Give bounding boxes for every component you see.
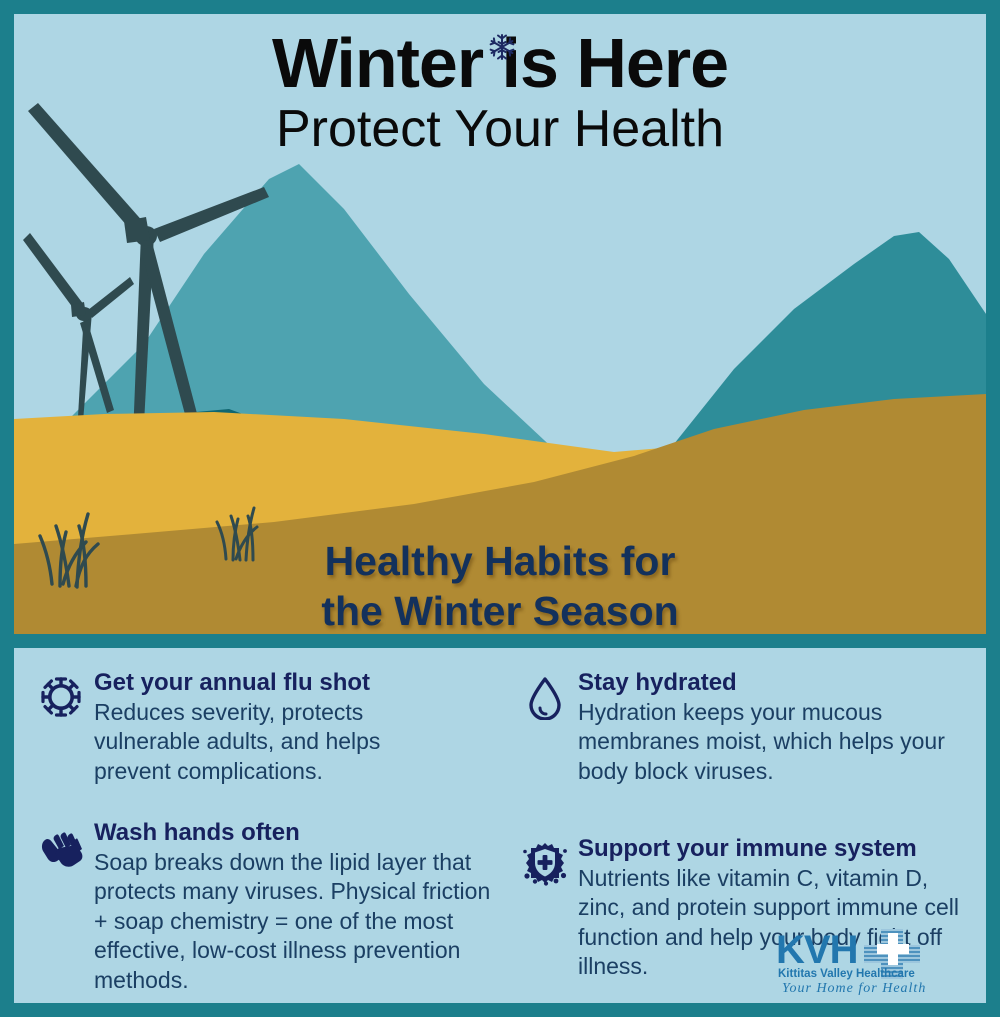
tip-text: Hydration keeps your mucous membranes mo… (578, 698, 952, 786)
immune-shield-icon (522, 840, 568, 886)
tip-item-stay-hydrated: Stay hydrated Hydration keeps your mucou… (522, 670, 952, 786)
tip-body: Wash hands often Soap breaks down the li… (94, 820, 508, 995)
tip-title: Support your immune system (578, 836, 972, 863)
banner-line-1: Healthy Habits for (14, 536, 986, 586)
poster-inner: Winter (14, 14, 986, 1003)
washing-hands-icon (38, 824, 84, 870)
kvh-wordmark: KVH (776, 928, 857, 972)
water-droplet-icon (522, 674, 568, 720)
kvh-logo: KVH (776, 927, 966, 997)
tip-title: Stay hydrated (578, 670, 952, 697)
tip-item-wash-hands: Wash hands often Soap breaks down the li… (38, 820, 508, 995)
tip-title: Get your annual flu shot (94, 670, 458, 697)
tip-item-flu-shot: Get your annual flu shot Reduces severit… (38, 670, 458, 786)
kvh-tagline: Your Home for Health (782, 981, 926, 996)
tip-title: Wash hands often (94, 820, 508, 847)
tip-body: Stay hydrated Hydration keeps your mucou… (578, 670, 952, 786)
section-banner: Healthy Habits for the Winter Season (14, 536, 986, 636)
tip-text: Reduces severity, protects vulnerable ad… (94, 698, 458, 786)
poster-frame: Winter (0, 0, 1000, 1017)
tip-body: Get your annual flu shot Reduces severit… (94, 670, 458, 786)
section-divider (14, 634, 986, 648)
virus-icon (38, 674, 84, 720)
kvh-org-name: Kittitas Valley Healthcare (778, 968, 915, 980)
banner-line-2: the Winter Season (14, 586, 986, 636)
tip-text: Soap breaks down the lipid layer that pr… (94, 848, 508, 995)
